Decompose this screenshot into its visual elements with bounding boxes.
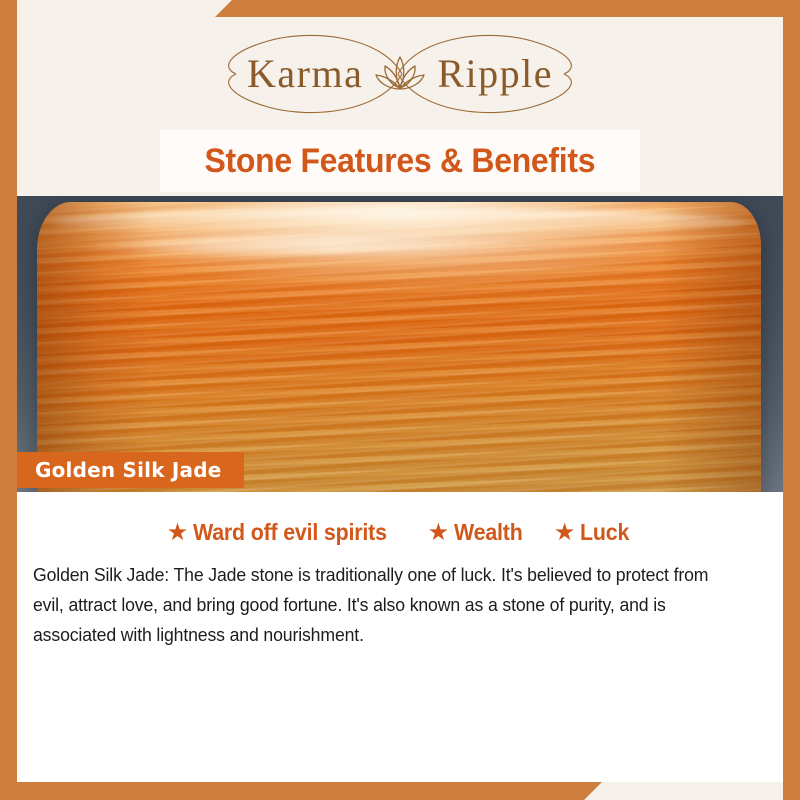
logo-wrap: Karma Ripple bbox=[190, 31, 610, 117]
stone-name-badge: Golden Silk Jade bbox=[17, 452, 244, 488]
page-title: Stone Features & Benefits bbox=[205, 142, 596, 181]
description-panel: ★ Ward off evil spirits ★ Wealth ★ Luck … bbox=[17, 492, 783, 782]
benefit-label: Wealth bbox=[454, 519, 523, 546]
benefit-label: Ward off evil spirits bbox=[193, 519, 387, 546]
lotus-icon bbox=[373, 52, 427, 96]
benefit-item-0: ★ Ward off evil spirits bbox=[167, 519, 402, 546]
benefit-label: Luck bbox=[580, 519, 629, 546]
star-icon: ★ bbox=[554, 521, 576, 545]
stone-name-label: Golden Silk Jade bbox=[35, 458, 222, 482]
benefit-item-1: ★ Wealth bbox=[428, 519, 528, 546]
frame-right-accent bbox=[783, 0, 800, 800]
stone-description: Golden Silk Jade: The Jade stone is trad… bbox=[33, 560, 732, 650]
star-icon: ★ bbox=[428, 521, 450, 545]
stone-right-shadow bbox=[660, 202, 761, 492]
logo-row: Karma Ripple bbox=[247, 52, 553, 96]
headline-banner: Stone Features & Benefits bbox=[160, 130, 640, 192]
stone-photo bbox=[17, 196, 783, 492]
benefits-list: ★ Ward off evil spirits ★ Wealth ★ Luck bbox=[17, 492, 783, 546]
frame-left-accent bbox=[0, 0, 17, 800]
stone-slab bbox=[37, 202, 761, 492]
frame-top-accent bbox=[215, 0, 800, 17]
frame-bottom-accent bbox=[0, 782, 602, 800]
star-icon: ★ bbox=[167, 521, 189, 545]
brand-word-left: Karma bbox=[247, 54, 363, 94]
infographic-page: Karma Ripple Stone Features & Benefits bbox=[0, 0, 800, 800]
stone-crest-highlight bbox=[51, 209, 746, 235]
brand-logo: Karma Ripple bbox=[17, 17, 783, 130]
stone-left-shadow bbox=[37, 202, 153, 492]
brand-word-right: Ripple bbox=[437, 54, 553, 94]
benefit-item-2: ★ Luck bbox=[554, 519, 633, 546]
